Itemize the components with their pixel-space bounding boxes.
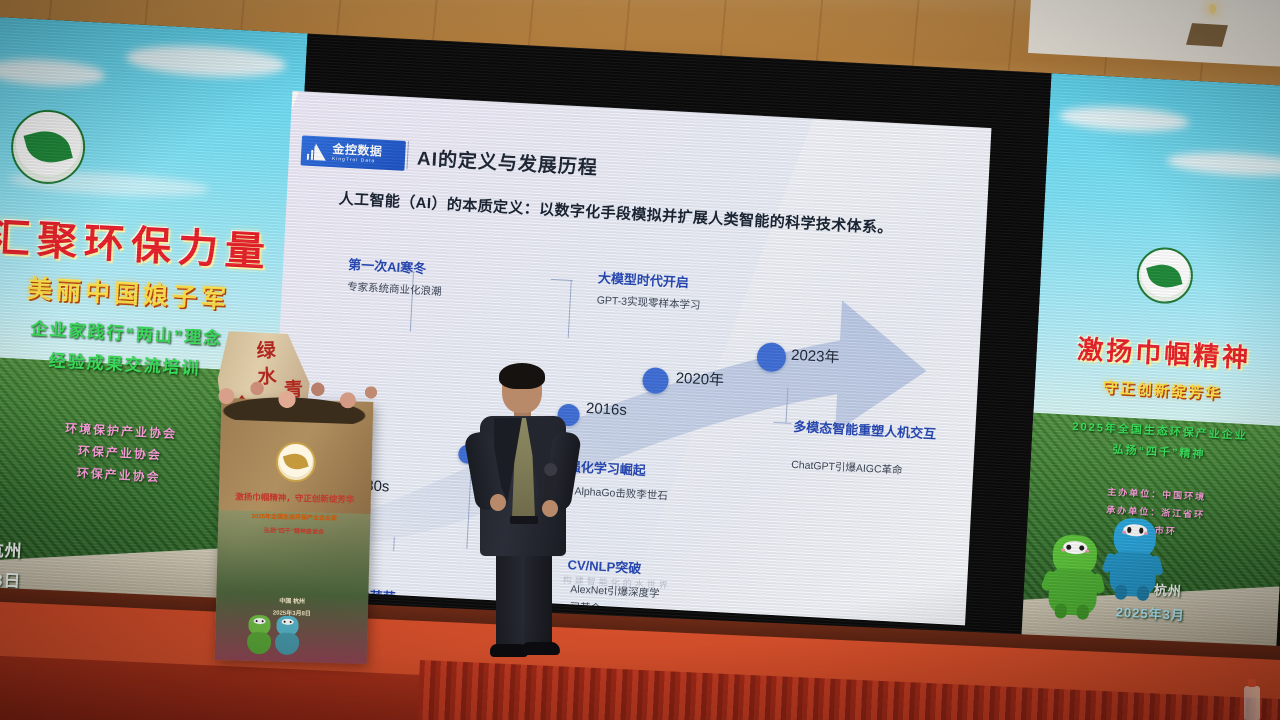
- right-banner: 激扬巾帼精神 守正创新绽芳华 2025年全国生态环保产业企业 弘扬“四千”精神 …: [1017, 73, 1280, 720]
- timeline-year-2016s: 2016s: [586, 400, 628, 419]
- green-mascot: [1048, 534, 1100, 614]
- ceiling-light: [1209, 4, 1216, 14]
- speaker-hand-left: [490, 494, 506, 511]
- conference-photo-scene: 汇聚环保力量 美丽中国娘子军 企业家践行“两山”理念 经验成果交流培训 环境保护…: [0, 0, 1280, 720]
- event-title-ai-winter: 第一次AI寒冬: [348, 254, 427, 277]
- timeline-year-2020: 2020年: [675, 367, 724, 391]
- speaker-shoe-right: [522, 642, 560, 655]
- speaker-hand-right: [542, 500, 558, 517]
- speaker-hair: [499, 363, 545, 389]
- speaker-leg-right: [524, 552, 552, 648]
- presentation-slide: 金控数据 KingTrol Data AI的定义与发展历程 人工智能（AI）的本…: [266, 91, 992, 626]
- podium-blue-mascot: [275, 616, 300, 655]
- logo-name-en: KingTrol Data: [332, 157, 382, 165]
- logo-name-cn: 金控数据: [332, 143, 383, 158]
- podium-flower-arrangement: [199, 357, 391, 426]
- speaker-belt: [510, 516, 538, 524]
- speaker-leg-left: [496, 552, 524, 648]
- water-bottle: [1244, 686, 1260, 720]
- ceiling-vent: [1186, 23, 1228, 47]
- speaker-presenter: [464, 366, 584, 666]
- sail-chart-logo-icon: [307, 141, 328, 162]
- podium-emblem-icon: [275, 442, 316, 483]
- timeline-year-2023: 2023年: [791, 344, 840, 368]
- speaking-podium: 激扬巾帼精神，守正创新绽芳华 2025年全国生态环保产业企业家 弘扬“四千”精神…: [215, 398, 374, 664]
- podium-green-mascot: [247, 615, 272, 654]
- podium-headline: 激扬巾帼精神，守正创新绽芳华: [219, 490, 371, 506]
- timeline-diagram: 1980s 2010S 2016s 2020年 2023年: [288, 242, 963, 577]
- blue-mascot: [1109, 517, 1159, 595]
- company-logo: 金控数据 KingTrol Data: [301, 135, 406, 170]
